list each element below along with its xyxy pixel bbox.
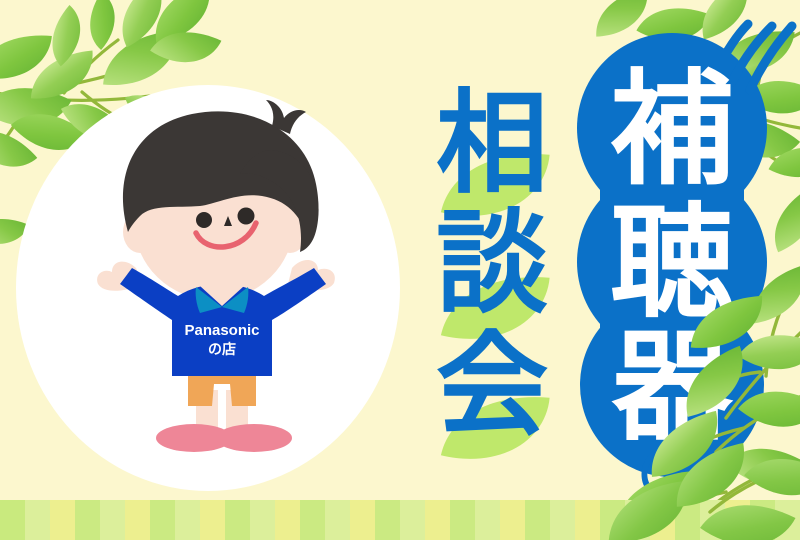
shirt-shop-text: の店	[208, 341, 236, 357]
stripe-segment	[425, 500, 450, 540]
stripe-segment	[75, 500, 100, 540]
stripe-segment	[625, 500, 650, 540]
bottom-stripe-band	[0, 500, 800, 540]
stripe-segment	[300, 500, 325, 540]
stripe-segment	[575, 500, 600, 540]
mascot-right-shoe	[216, 424, 292, 452]
stripe-segment	[50, 500, 75, 540]
headline-char-kai: 会	[436, 321, 548, 451]
stripe-segment	[250, 500, 275, 540]
stripe-segment	[100, 500, 125, 540]
stripe-segment	[475, 500, 500, 540]
stripe-segment	[225, 500, 250, 540]
stripe-segment	[325, 500, 350, 540]
headline-char-dan: 談	[436, 199, 548, 329]
stripe-segment	[725, 500, 750, 540]
banner-artwork: Panasonic の店	[0, 0, 800, 540]
headline-char-sou: 相	[436, 79, 548, 209]
stripe-segment	[350, 500, 375, 540]
headline-char-ho: 補	[610, 58, 734, 202]
stripe-segment	[600, 500, 625, 540]
stripe-segment	[550, 500, 575, 540]
stripe-segment	[0, 500, 25, 540]
stripe-segment	[375, 500, 400, 540]
stripe-segment	[200, 500, 225, 540]
stripe-segment	[400, 500, 425, 540]
stripe-segment	[700, 500, 725, 540]
stripe-segment	[450, 500, 475, 540]
stripe-segment	[675, 500, 700, 540]
stripe-segment	[525, 500, 550, 540]
headline-column-left: 相 談 会	[436, 79, 548, 451]
stripe-segment	[125, 500, 150, 540]
stripe-segment	[175, 500, 200, 540]
mascot-right-eye	[238, 208, 255, 225]
stripe-segment	[750, 500, 775, 540]
hearing-aid-consultation-banner: Panasonic の店	[0, 0, 800, 540]
stripe-segment	[775, 500, 800, 540]
shirt-brand-text: Panasonic	[184, 322, 259, 339]
mascot-left-eye	[196, 212, 212, 228]
stripe-segment	[25, 500, 50, 540]
stripe-segment	[150, 500, 175, 540]
stripe-segment	[650, 500, 675, 540]
stripe-segment	[275, 500, 300, 540]
stripe-segment	[500, 500, 525, 540]
